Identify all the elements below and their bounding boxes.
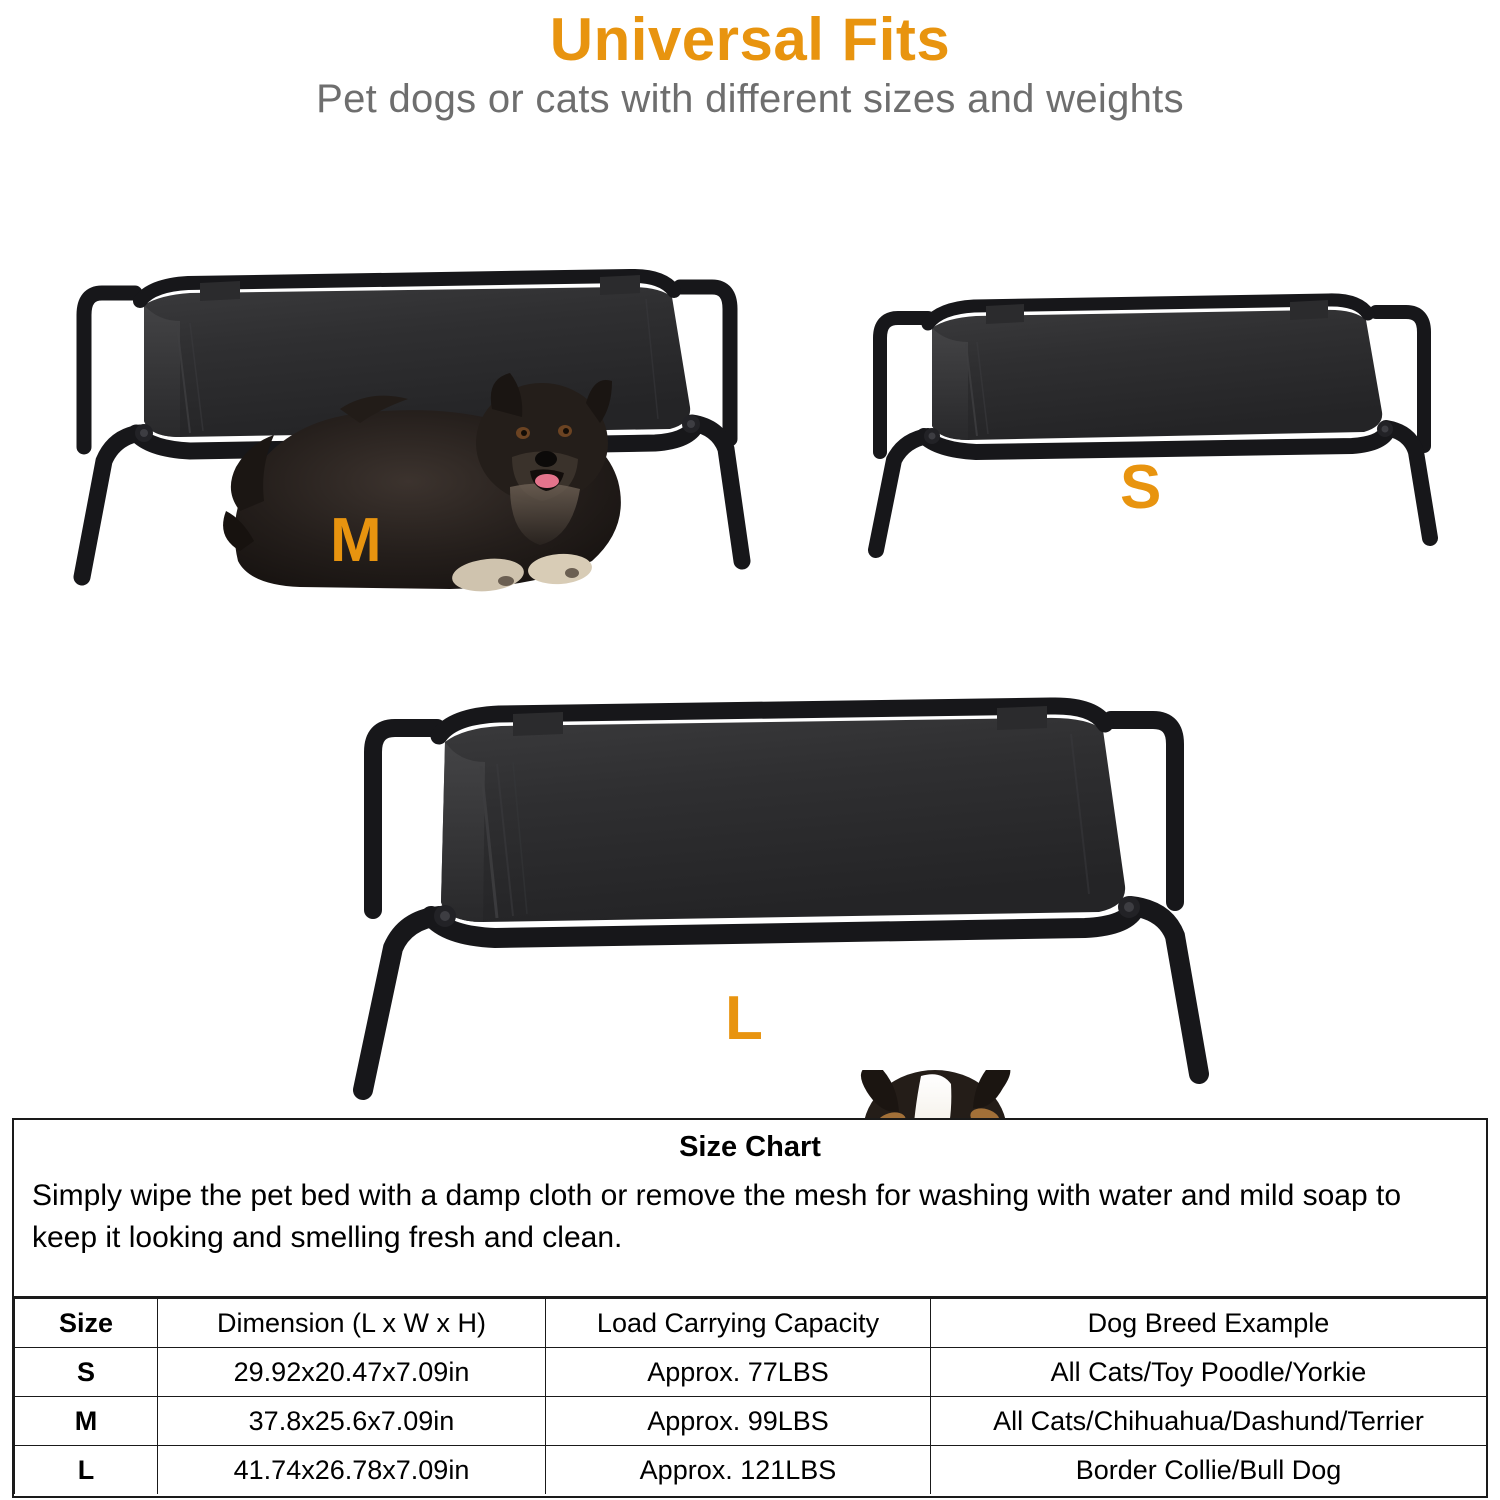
size-chart-table-body: S 29.92x20.47x7.09in Approx. 77LBS All C… (15, 1348, 1487, 1495)
table-row: L 41.74x26.78x7.09in Approx. 121LBS Bord… (15, 1446, 1487, 1495)
cell-dimension: 41.74x26.78x7.09in (158, 1446, 546, 1495)
column-header-size: Size (15, 1299, 158, 1348)
page-title: Universal Fits (0, 0, 1500, 71)
cell-capacity: Approx. 99LBS (546, 1397, 931, 1446)
cell-dimension: 29.92x20.47x7.09in (158, 1348, 546, 1397)
cell-capacity: Approx. 77LBS (546, 1348, 931, 1397)
size-chart-panel: Size Chart Simply wipe the pet bed with … (12, 1118, 1488, 1498)
size-chart-intro: Size Chart Simply wipe the pet bed with … (14, 1120, 1486, 1298)
size-label-large: L (725, 988, 763, 1050)
size-chart-table: Size Dimension (L x W x H) Load Carrying… (14, 1298, 1487, 1494)
table-header-row: Size Dimension (L x W x H) Load Carrying… (15, 1299, 1487, 1348)
size-label-small: S (1120, 457, 1161, 519)
cell-breed: All Cats/Toy Poodle/Yorkie (931, 1348, 1487, 1397)
product-scene-medium (40, 175, 760, 575)
cell-capacity: Approx. 121LBS (546, 1446, 931, 1495)
size-chart-care-text: Simply wipe the pet bed with a damp clot… (28, 1175, 1472, 1260)
cell-dimension: 37.8x25.6x7.09in (158, 1397, 546, 1446)
cell-size: M (15, 1397, 158, 1446)
cell-breed: All Cats/Chihuahua/Dashund/Terrier (931, 1397, 1487, 1446)
column-header-breed: Dog Breed Example (931, 1299, 1487, 1348)
table-row: S 29.92x20.47x7.09in Approx. 77LBS All C… (15, 1348, 1487, 1397)
cell-size: L (15, 1446, 158, 1495)
column-header-capacity: Load Carrying Capacity (546, 1299, 931, 1348)
table-row: M 37.8x25.6x7.09in Approx. 99LBS All Cat… (15, 1397, 1487, 1446)
header: Universal Fits Pet dogs or cats with dif… (0, 0, 1500, 140)
cell-breed: Border Collie/Bull Dog (931, 1446, 1487, 1495)
column-header-dimension: Dimension (L x W x H) (158, 1299, 546, 1348)
page-subtitle: Pet dogs or cats with different sizes an… (0, 71, 1500, 121)
cell-size: S (15, 1348, 158, 1397)
size-chart-heading: Size Chart (28, 1130, 1472, 1165)
size-chart-table-head: Size Dimension (L x W x H) Load Carrying… (15, 1299, 1487, 1348)
